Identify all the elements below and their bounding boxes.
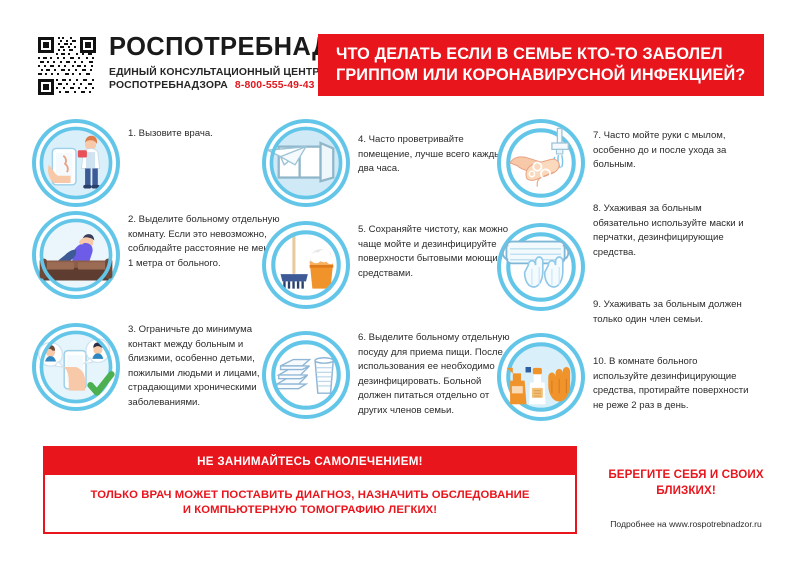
video-call-contact-icon: [32, 323, 120, 411]
warning-line-1: ТОЛЬКО ВРАЧ МОЖЕТ ПОСТАВИТЬ ДИАГНОЗ, НАЗ…: [91, 489, 530, 501]
advice-text-7: 7. Часто мойте руки с мылом, особенно до…: [593, 129, 753, 173]
warning-headline-bar: НЕ ЗАНИМАЙТЕСЬ САМОЛЕЧЕНИЕМ!: [45, 448, 575, 475]
more-info-link[interactable]: Подробнее на www.rospotrebnadzor.ru: [596, 519, 776, 529]
warning-headline-text: НЕ ЗАНИМАЙТЕСЬ САМОЛЕЧЕНИЕМ!: [197, 455, 423, 468]
warning-body: ТОЛЬКО ВРАЧ МОЖЕТ ПОСТАВИТЬ ДИАГНОЗ, НАЗ…: [45, 475, 575, 530]
washing-hands-under-tap-icon: [497, 119, 585, 207]
mask-and-gloves-icon: [497, 223, 585, 311]
care-line-1: БЕРЕГИТЕ СЕБЯ И СВОИХ: [596, 467, 776, 483]
advice-text-9: 9. Ухаживать за больным должен только од…: [593, 298, 753, 327]
advice-item-1: 1. Вызовите врача.: [32, 119, 280, 207]
brand-subtitle-org: РОСПОТРЕБНАДЗОРА: [109, 80, 228, 91]
qr-code-icon: [36, 35, 98, 97]
advice-text-2: 2. Выделите больному отдельную комнату. …: [128, 211, 280, 271]
advice-item-6: 6. Выделите больному отдельную посуду дл…: [262, 331, 510, 419]
advice-text-1: 1. Вызовите врача.: [128, 119, 280, 142]
advice-text-10: 10. В комнате больного используйте дезин…: [593, 355, 753, 413]
advice-column-2: 4. Часто проветривайте помещение, лучше …: [262, 115, 512, 440]
poster-header: РОСПОТРЕБНАДЗОР ЕДИНЫЙ КОНСУЛЬТАЦИОННЫЙ …: [0, 0, 800, 118]
hotline-phone-number[interactable]: 8-800-555-49-43: [235, 80, 315, 91]
title-banner: ЧТО ДЕЛАТЬ ЕСЛИ В СЕМЬЕ КТО-ТО ЗАБОЛЕЛ Г…: [318, 34, 764, 96]
warning-line-2: И КОМПЬЮТЕРНУЮ ТОМОГРАФИЮ ЛЕГКИХ!: [183, 504, 437, 516]
advice-text-3: 3. Ограничьте до минимума контакт между …: [128, 323, 280, 410]
doctor-phone-call-icon: [32, 119, 120, 207]
person-resting-on-sofa-icon: [32, 211, 120, 299]
advice-text-8: 8. Ухаживая за больным обязательно испол…: [593, 202, 753, 260]
advice-columns: 1. Вызовите врача.: [0, 115, 800, 440]
title-line-1: ЧТО ДЕЛАТЬ ЕСЛИ В СЕМЬЕ КТО-ТО ЗАБОЛЕЛ: [336, 44, 764, 66]
advice-text-6: 6. Выделите больному отдельную посуду дл…: [358, 331, 510, 418]
plates-and-cup-icon: [262, 331, 350, 419]
advice-column-1: 1. Вызовите врача.: [32, 115, 282, 440]
title-line-2: ГРИППОМ ИЛИ КОРОНАВИРУСНОЙ ИНФЕКЦИЕЙ?: [336, 65, 764, 87]
advice-item-2: 2. Выделите больному отдельную комнату. …: [32, 211, 280, 299]
advice-item-5: 5. Сохраняйте чистоту, как можно чаще мо…: [262, 221, 510, 309]
care-line-2: БЛИЗКИХ!: [596, 483, 776, 499]
disinfectant-bottles-and-glove-icon: [497, 333, 585, 421]
care-message: БЕРЕГИТЕ СЕБЯ И СВОИХ БЛИЗКИХ!: [596, 467, 776, 498]
warning-box: НЕ ЗАНИМАЙТЕСЬ САМОЛЕЧЕНИЕМ! ТОЛЬКО ВРАЧ…: [43, 446, 577, 534]
advice-text-4: 4. Часто проветривайте помещение, лучше …: [358, 119, 510, 177]
poster-root: РОСПОТРЕБНАДЗОР ЕДИНЫЙ КОНСУЛЬТАЦИОННЫЙ …: [0, 0, 800, 565]
advice-column-3: 7. Часто мойте руки с мылом, особенно до…: [497, 115, 747, 440]
advice-item-3: 3. Ограничьте до минимума контакт между …: [32, 323, 280, 411]
advice-text-5: 5. Сохраняйте чистоту, как можно чаще мо…: [358, 221, 510, 281]
mop-and-bucket-icon: [262, 221, 350, 309]
poster-footer: НЕ ЗАНИМАЙТЕСЬ САМОЛЕЧЕНИЕМ! ТОЛЬКО ВРАЧ…: [0, 440, 800, 565]
open-window-ventilation-icon: [262, 119, 350, 207]
advice-item-4: 4. Часто проветривайте помещение, лучше …: [262, 119, 510, 207]
